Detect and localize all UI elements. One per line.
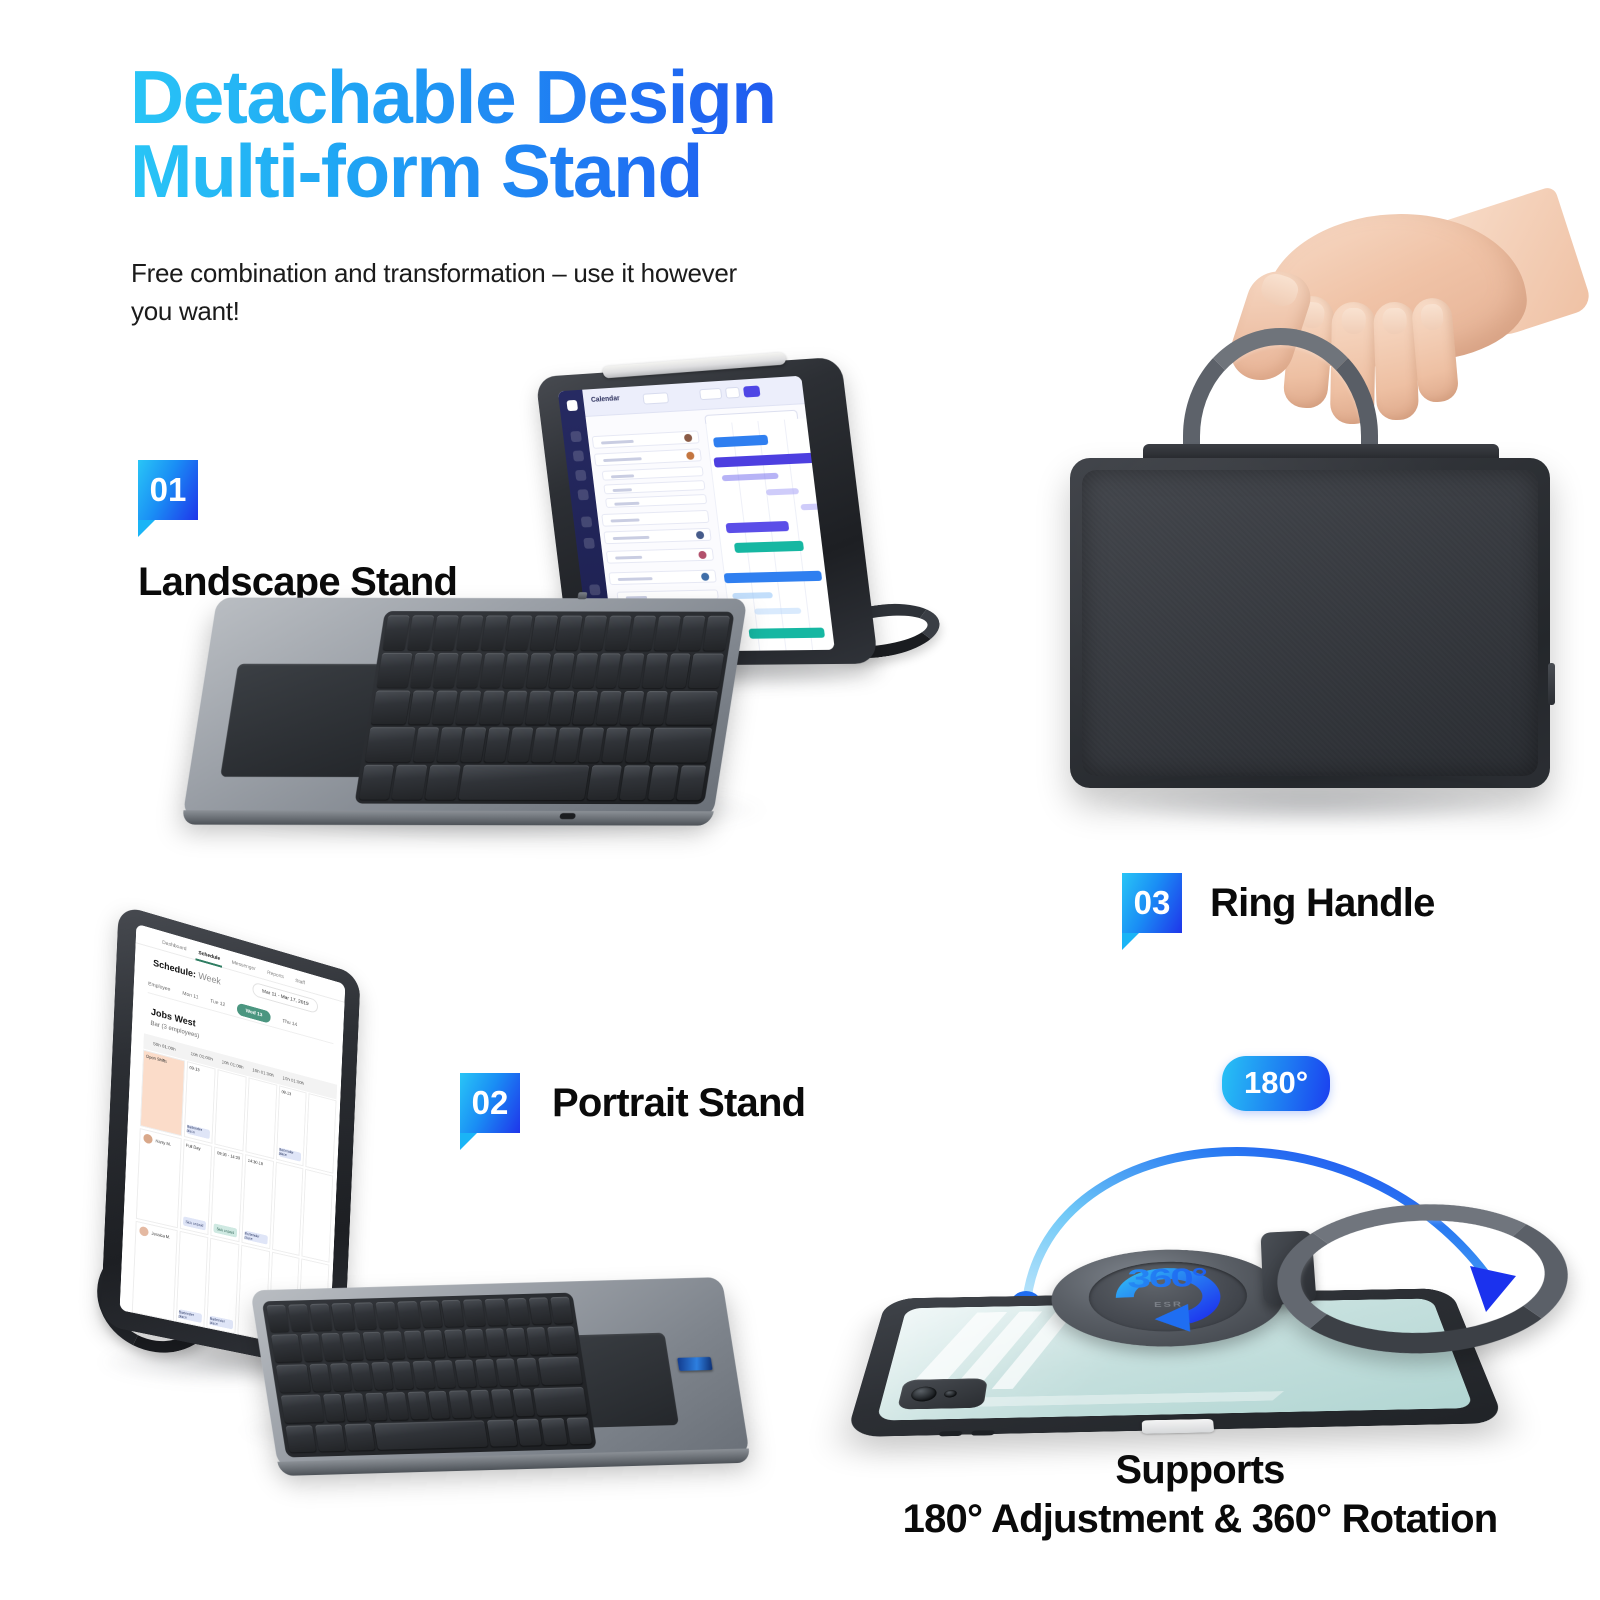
- shift-time: Full Day: [186, 1142, 210, 1153]
- camera-sensor-icon: [943, 1390, 957, 1398]
- day-mon[interactable]: Mon 11: [182, 990, 198, 1001]
- day-thu[interactable]: Thu 14: [282, 1018, 297, 1028]
- schedule-label: Schedule:: [153, 958, 196, 980]
- ring-handle-product: [1055, 220, 1575, 850]
- shift-task: Sick unpaid: [214, 1224, 237, 1238]
- ring-handle-open[interactable]: [1273, 1199, 1582, 1360]
- shift-cell[interactable]: [245, 1077, 277, 1158]
- badge-03: 03: [1122, 873, 1182, 933]
- tab-messenger[interactable]: Messenger: [232, 959, 256, 972]
- supports-line-2: 180° Adjustment & 360° Rotation: [830, 1497, 1570, 1542]
- detachable-keyboard: [250, 1277, 750, 1468]
- gantt-bar[interactable]: [749, 628, 826, 639]
- view-chip-grid[interactable]: [743, 385, 761, 397]
- page-subtitle: Free combination and transformation – us…: [131, 255, 751, 330]
- view-chip-list[interactable]: [725, 387, 740, 399]
- fingernail: [1420, 303, 1445, 331]
- rotating-disc[interactable]: 360° ESR: [1047, 1247, 1295, 1349]
- tab-dashboard[interactable]: Dashboard: [162, 939, 187, 952]
- shift-task: Bartender place: [244, 1231, 267, 1245]
- tab-reports[interactable]: Reports: [267, 969, 284, 980]
- keyboard-sticker: [677, 1357, 712, 1371]
- task-row[interactable]: [594, 448, 702, 466]
- shift-cell[interactable]: 09-13Bartender place: [183, 1061, 215, 1144]
- employee-cell[interactable]: Harry M.: [136, 1128, 182, 1229]
- key-row: [365, 728, 713, 763]
- page-title: Detachable Design Multi-form Stand: [130, 60, 1030, 209]
- shift-cell[interactable]: [302, 1169, 334, 1264]
- gantt-bar[interactable]: [726, 521, 790, 533]
- infographic-page: Detachable Design Multi-form Stand Free …: [0, 0, 1600, 1600]
- key-row: [383, 615, 731, 650]
- keyboard-usb-port: [559, 813, 576, 819]
- camera-module: [897, 1378, 988, 1409]
- floor-reflection: [951, 1391, 1283, 1407]
- shift-cell[interactable]: [272, 1161, 304, 1256]
- title-line-2: Multi-form Stand: [130, 134, 1030, 208]
- shift-time: 09-13: [189, 1065, 213, 1076]
- shift-time: 14:30-18: [248, 1157, 271, 1168]
- fingernail: [1382, 308, 1406, 335]
- tablet-case-closed: [1070, 458, 1550, 788]
- rotation-demo: 180°: [830, 1030, 1570, 1460]
- task-row[interactable]: [608, 570, 716, 586]
- task-row[interactable]: [606, 548, 714, 564]
- keyboard-edge: [181, 810, 714, 825]
- avatar: [139, 1226, 148, 1237]
- key-row: [371, 690, 719, 725]
- gantt-bar[interactable]: [734, 541, 804, 553]
- shift-task: Bartender place: [210, 1316, 233, 1330]
- shift-cell[interactable]: Full DaySick unpaid: [179, 1138, 212, 1235]
- section-03: 03 Ring Handle: [1122, 873, 1435, 933]
- tab-schedule[interactable]: Schedule: [198, 949, 220, 961]
- shift-cell[interactable]: Bartender place: [207, 1238, 240, 1334]
- tab-staff[interactable]: Staff: [295, 977, 305, 986]
- app-title: Calendar: [591, 395, 620, 404]
- disc-360-label: 360°: [1052, 1261, 1283, 1296]
- shift-time: 09-13: [281, 1089, 304, 1100]
- key-matrix[interactable]: [261, 1292, 597, 1457]
- supports-line-1: Supports: [830, 1448, 1570, 1493]
- shift-cell[interactable]: 09:30 - 14:30Sick unpaid: [211, 1146, 244, 1243]
- title-line-1: Detachable Design: [130, 60, 1030, 134]
- shift-task: Bartender place: [279, 1147, 302, 1161]
- shift-time: 09:30 - 14:30: [217, 1150, 240, 1161]
- task-row[interactable]: [603, 528, 711, 544]
- sidebar-icon-1[interactable]: [570, 431, 582, 442]
- thumbnail: [1258, 270, 1301, 310]
- key-row: [271, 1326, 579, 1362]
- shift-cell[interactable]: Bartender place: [175, 1231, 208, 1328]
- case-latch: [1142, 1419, 1214, 1434]
- key-row: [280, 1387, 588, 1423]
- view-chip-board[interactable]: [699, 388, 722, 400]
- gantt-bar[interactable]: [754, 608, 801, 615]
- shift-cell[interactable]: 14:30-18Bartender place: [241, 1154, 273, 1250]
- day-tue[interactable]: Tue 12: [210, 998, 225, 1008]
- shift-cell[interactable]: 09-13Bartender place: [276, 1085, 307, 1166]
- task-subrow[interactable]: [603, 480, 705, 494]
- open-shifts-cell[interactable]: Open Shifts: [140, 1050, 185, 1136]
- case-buttons: [939, 1430, 995, 1436]
- shift-task: Bartender place: [187, 1124, 211, 1139]
- day-wed-active[interactable]: Wed 13: [237, 1002, 272, 1023]
- sidebar-logo-icon: [566, 400, 578, 411]
- sidebar-icon-2[interactable]: [573, 450, 585, 461]
- case-side-button: [1548, 663, 1555, 705]
- shift-task: Sick unpaid: [183, 1217, 207, 1231]
- employee-cell[interactable]: Jessica M.: [132, 1221, 178, 1321]
- key-row: [266, 1296, 574, 1332]
- task-row[interactable]: [601, 510, 709, 527]
- key-row: [285, 1417, 593, 1453]
- avatar: [143, 1133, 152, 1144]
- ring-band-icon: [1273, 1199, 1582, 1360]
- landscape-stand-product: Calendar: [185, 350, 945, 870]
- section-03-label: Ring Handle: [1210, 881, 1435, 926]
- sidebar-icon-3[interactable]: [575, 470, 587, 481]
- sidebar-icon-5[interactable]: [581, 516, 593, 527]
- filter-employee[interactable]: Employee: [148, 980, 171, 992]
- sidebar-icon-7[interactable]: [589, 584, 601, 595]
- detachable-keyboard: [183, 598, 748, 818]
- angle-badge-180: 180°: [1222, 1056, 1330, 1111]
- employee-name: Harry M.: [155, 1138, 171, 1147]
- schedule-view-value[interactable]: Week: [198, 970, 221, 986]
- keyboard-hinge: [578, 592, 588, 599]
- shift-cell[interactable]: [306, 1093, 337, 1173]
- trackpad[interactable]: [221, 663, 382, 777]
- employee-name: Jessica M.: [151, 1231, 170, 1240]
- camera-lens-icon: [910, 1386, 938, 1401]
- task-subrow[interactable]: [602, 466, 704, 481]
- task-row[interactable]: [592, 430, 700, 448]
- toolbar-chip-date[interactable]: [642, 392, 669, 404]
- key-row: [275, 1357, 583, 1393]
- sidebar-icon-6[interactable]: [583, 538, 595, 549]
- supports-caption: Supports 180° Adjustment & 360° Rotation: [830, 1448, 1570, 1542]
- shift-task: Bartender place: [178, 1309, 202, 1323]
- key-row: [359, 765, 707, 800]
- portrait-stand-product: Dashboard Schedule Messenger Reports Sta…: [80, 940, 800, 1460]
- key-matrix[interactable]: [354, 611, 735, 804]
- shift-cell[interactable]: [215, 1069, 247, 1151]
- task-subrow[interactable]: [605, 494, 707, 508]
- key-row: [377, 653, 725, 688]
- sidebar-icon-4[interactable]: [577, 489, 589, 500]
